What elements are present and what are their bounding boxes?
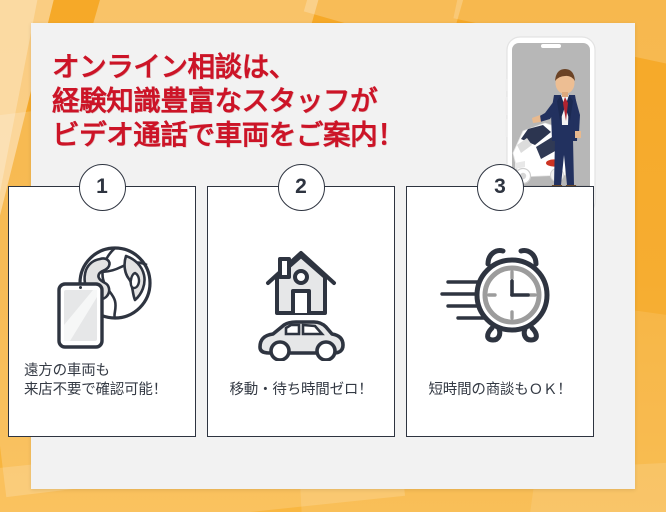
card-caption: 短時間の商談もＯＫ！ [419, 381, 581, 400]
card-number-badge: 1 [79, 164, 126, 211]
feature-cards: 1 遠方の車両も 来店不要で確認可 [8, 186, 596, 451]
feature-card-3[interactable]: 3 [406, 186, 594, 437]
card-caption: 移動・待ち時間ゼロ！ [220, 381, 382, 400]
page-title: オンライン相談は、 経験知識豊富なスタッフが ビデオ通話で車両をご案内！ [52, 50, 522, 152]
alarm-clock-speed-icon [407, 225, 593, 365]
promo-poster: オンライン相談は、 経験知識豊富なスタッフが ビデオ通話で車両をご案内！ [0, 0, 666, 512]
card-caption: 遠方の車両も 来店不要で確認可能！ [21, 362, 183, 400]
card-number-badge: 3 [477, 164, 524, 211]
card-number-badge: 2 [278, 164, 325, 211]
house-car-icon [208, 225, 394, 365]
globe-smartphone-icon [9, 225, 195, 365]
feature-card-1[interactable]: 1 遠方の車両も 来店不要で確認可 [8, 186, 196, 437]
feature-card-2[interactable]: 2 [207, 186, 395, 437]
